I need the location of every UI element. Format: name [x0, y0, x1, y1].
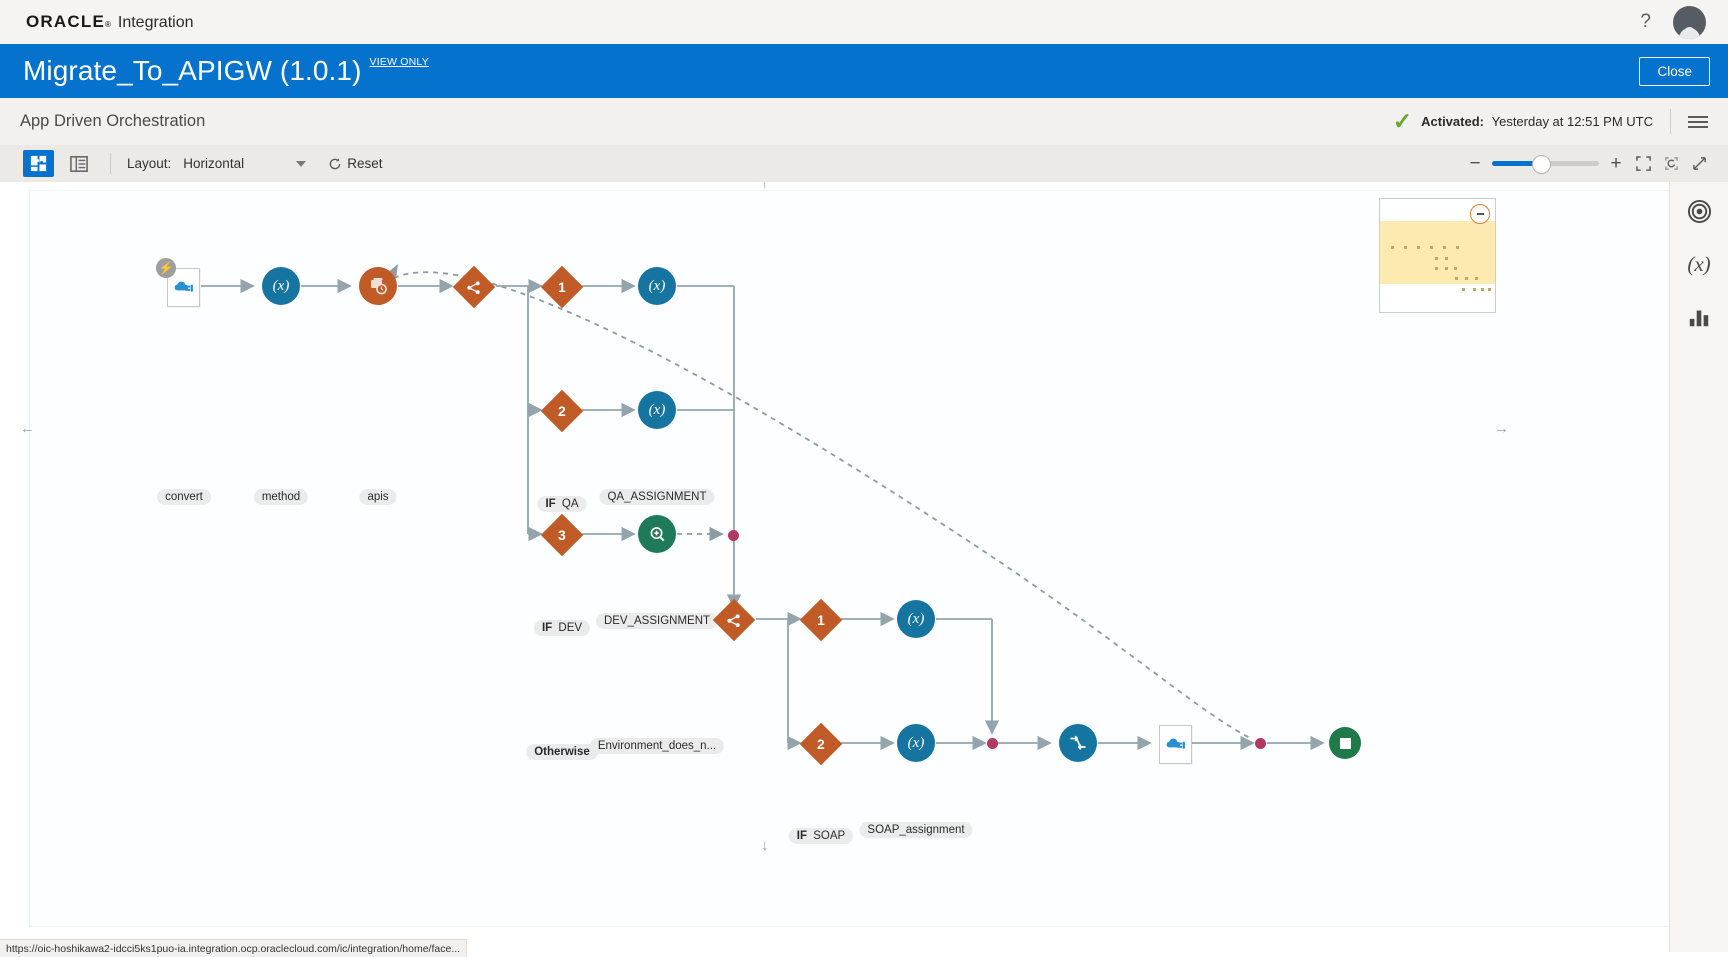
- bar-chart-icon[interactable]: [1682, 300, 1716, 334]
- page-title: Migrate_To_APIGW (1.0.1): [23, 55, 362, 87]
- x-variable-icon: (x): [638, 267, 676, 305]
- stop-square-icon: [1329, 727, 1361, 759]
- node-branch-qa[interactable]: 1: [547, 272, 577, 302]
- divider: [1670, 109, 1671, 134]
- node-label-convert: convert: [157, 489, 211, 505]
- merge-dot-fault[interactable]: [728, 530, 739, 541]
- target-bullseye-icon[interactable]: [1682, 194, 1716, 228]
- layout-label: Layout:: [127, 156, 171, 171]
- fit-to-screen-icon: [1636, 156, 1651, 171]
- node-soap-assignment[interactable]: (x): [897, 600, 935, 638]
- layout-select[interactable]: Horizontal: [183, 152, 306, 176]
- cond-dev: DEV: [558, 622, 582, 634]
- view-only-badge: VIEW ONLY: [370, 56, 429, 68]
- variables-x-label: (x): [1687, 252, 1710, 277]
- zoom-slider[interactable]: [1492, 161, 1599, 166]
- cond-qa: QA: [562, 498, 579, 510]
- node-convert[interactable]: ⚡: [167, 268, 200, 307]
- otherwise-text-1: Otherwise: [534, 746, 590, 758]
- canvas-toolbar: Layout: Horizontal Reset − +: [0, 145, 1728, 183]
- diagram-view-button[interactable]: [23, 150, 54, 177]
- cloud-adapter-icon: ⚡: [167, 268, 200, 307]
- if-prefix-qa: IF: [545, 498, 555, 510]
- node-branch-otherwise-2[interactable]: 2: [806, 729, 836, 759]
- x-variable-icon: (x): [897, 724, 935, 762]
- close-button[interactable]: Close: [1639, 57, 1710, 86]
- avatar[interactable]: [1673, 6, 1706, 39]
- integration-style-label: App Driven Orchestration: [20, 112, 205, 131]
- node-map-to-deployment[interactable]: [1059, 724, 1097, 762]
- zoom-out-button[interactable]: −: [1464, 154, 1486, 173]
- node-qa-assignment[interactable]: (x): [638, 267, 676, 305]
- branch-number-otherwise2: 2: [817, 736, 825, 752]
- if-prefix-soap: IF: [797, 830, 807, 842]
- cond-soap: SOAP: [813, 830, 845, 842]
- integration-title-bar: Migrate_To_APIGW (1.0.1) VIEW ONLY Close: [0, 44, 1728, 98]
- expand-diagonal-icon: [1692, 156, 1707, 171]
- chevron-down-icon: [296, 161, 306, 167]
- node-label-otherwise-1: Otherwise: [526, 744, 598, 760]
- branch-3-icon: 3: [541, 514, 583, 556]
- minimap-viewport-band: [1380, 221, 1495, 284]
- map-arrows-icon: [1059, 724, 1097, 762]
- global-header: ORACLE ® Integration ?: [0, 0, 1728, 45]
- reset-label: Reset: [347, 156, 382, 171]
- x-variable-icon: (x): [638, 391, 676, 429]
- minimap-collapse-icon[interactable]: [1470, 204, 1490, 224]
- check-mark-icon: ✓: [1393, 110, 1412, 133]
- node-label-env-fault: Environment_does_n...: [590, 738, 724, 754]
- x-variable-icon: (x): [897, 600, 935, 638]
- node-method-assignment[interactable]: (x): [897, 724, 935, 762]
- activation-status-label: Activated:: [1421, 114, 1484, 129]
- node-label-if-dev: IF DEV: [534, 620, 590, 636]
- minimap[interactable]: [1379, 198, 1496, 313]
- node-method[interactable]: (x): [262, 267, 300, 305]
- node-branch-otherwise-1[interactable]: 3: [547, 520, 577, 550]
- hamburger-menu-icon[interactable]: [1688, 116, 1708, 128]
- activation-status: Activated: Yesterday at 12:51 PM UTC: [1421, 114, 1653, 129]
- reset-circular-arrow-icon: [328, 157, 342, 171]
- fault-return-icon: [638, 515, 676, 553]
- merge-dot-end[interactable]: [1255, 738, 1266, 749]
- node-label-apis: apis: [359, 489, 396, 505]
- rest-invoke-icon: [359, 267, 397, 305]
- expand-button[interactable]: [1687, 152, 1711, 176]
- if-prefix-dev: IF: [542, 622, 552, 634]
- reset-button[interactable]: Reset: [328, 156, 382, 171]
- node-label-qa-assignment: QA_ASSIGNMENT: [599, 489, 714, 505]
- list-table-icon: [70, 155, 88, 173]
- node-end-stop[interactable]: [1329, 727, 1361, 759]
- node-switch-2[interactable]: [719, 605, 749, 635]
- list-view-button[interactable]: [63, 150, 94, 177]
- switch-icon: [713, 599, 755, 641]
- zoom-in-button[interactable]: +: [1605, 154, 1627, 173]
- node-label-method: method: [254, 489, 308, 505]
- puzzle-diagram-icon: [29, 154, 48, 173]
- node-switch-1[interactable]: [459, 272, 489, 302]
- node-branch-soap[interactable]: 1: [806, 605, 836, 635]
- status-bar-url: https://oic-hoshikawa2-idcci5ks1puo-ia.i…: [6, 943, 460, 955]
- oracle-logo[interactable]: ORACLE ® Integration: [0, 12, 194, 32]
- toolbar-divider: [110, 153, 111, 174]
- trigger-bolt-icon: ⚡: [156, 258, 176, 278]
- node-apis[interactable]: [359, 267, 397, 305]
- node-dev-assignment[interactable]: (x): [638, 391, 676, 429]
- branch-2-icon: 2: [800, 723, 842, 765]
- switch-icon: [453, 266, 495, 308]
- x-variable-icon: (x): [262, 267, 300, 305]
- branch-number-otherwise1: 3: [558, 527, 566, 543]
- fit-to-screen-button[interactable]: [1631, 152, 1655, 176]
- node-label-if-soap: IF SOAP: [789, 828, 853, 844]
- node-branch-dev[interactable]: 2: [547, 396, 577, 426]
- sub-header: App Driven Orchestration ✓ Activated: Ye…: [0, 98, 1728, 146]
- merge-dot-switch2[interactable]: [987, 738, 998, 749]
- zoom-slider-handle[interactable]: [1532, 155, 1551, 174]
- node-label-soap-assignment: SOAP_assignment: [859, 822, 972, 838]
- node-env-fault[interactable]: [638, 515, 676, 553]
- product-name: Integration: [118, 14, 194, 32]
- branch-1-icon: 1: [800, 599, 842, 641]
- variables-x-icon[interactable]: (x): [1682, 247, 1716, 281]
- branch-number-qa: 1: [558, 279, 566, 295]
- branch-2-icon: 2: [541, 390, 583, 432]
- branch-number-soap: 1: [817, 612, 825, 628]
- node-label-dev-assignment: DEV_ASSIGNMENT: [596, 613, 718, 629]
- oracle-brand-text: ORACLE: [26, 12, 105, 32]
- oracle-registered-mark: ®: [105, 20, 111, 29]
- branch-1-icon: 1: [541, 266, 583, 308]
- branch-number-dev: 2: [558, 403, 566, 419]
- right-rail: (x): [1669, 182, 1728, 952]
- recenter-button[interactable]: [1659, 152, 1683, 176]
- activation-status-value: Yesterday at 12:51 PM UTC: [1492, 114, 1653, 129]
- recenter-icon: [1664, 156, 1679, 171]
- layout-selected-value: Horizontal: [183, 156, 244, 171]
- status-bar: https://oic-hoshikawa2-idcci5ks1puo-ia.i…: [0, 939, 467, 957]
- help-icon[interactable]: ?: [1640, 11, 1651, 33]
- node-label-if-qa: IF QA: [537, 496, 586, 512]
- cloud-adapter-icon: [1159, 725, 1192, 764]
- node-deployment[interactable]: [1159, 725, 1192, 764]
